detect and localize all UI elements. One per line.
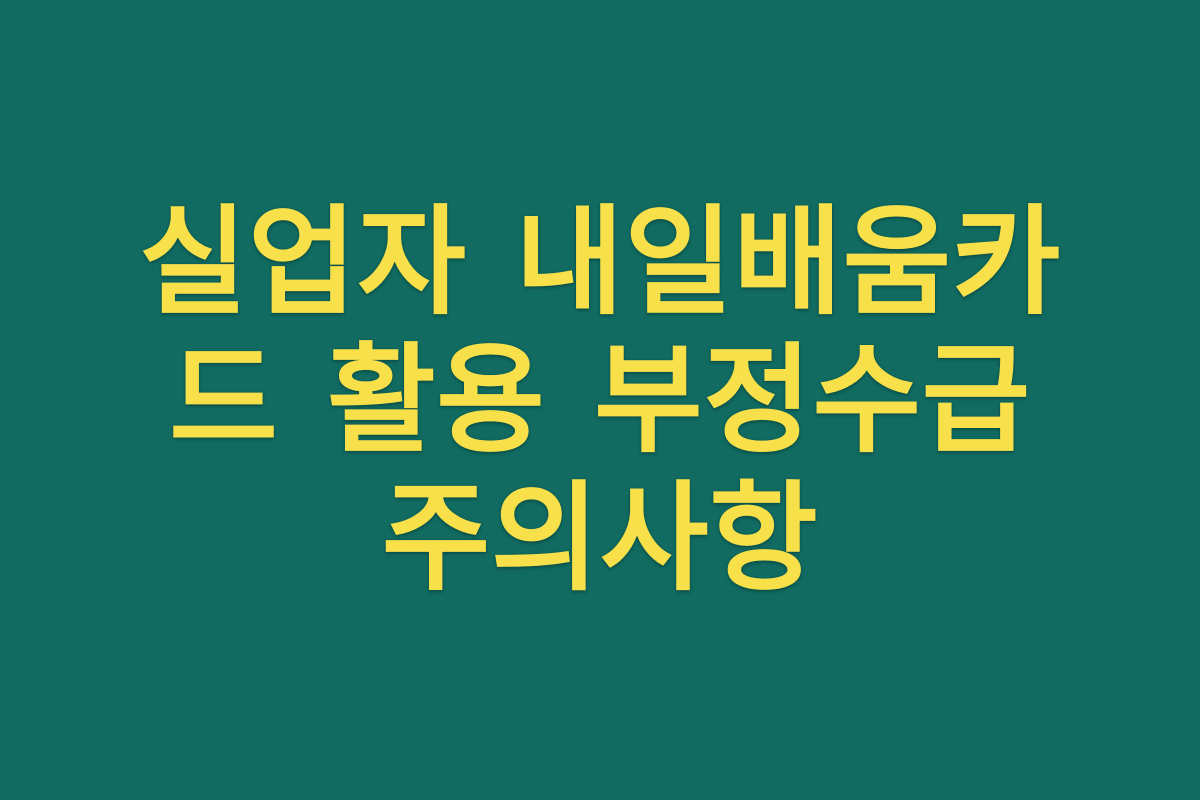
page-title: 실업자 내일배움카드 활용 부정수급 주의사항	[100, 193, 1100, 607]
title-banner: 실업자 내일배움카드 활용 부정수급 주의사항	[0, 0, 1200, 800]
headline-block: 실업자 내일배움카드 활용 부정수급 주의사항	[90, 193, 1110, 607]
